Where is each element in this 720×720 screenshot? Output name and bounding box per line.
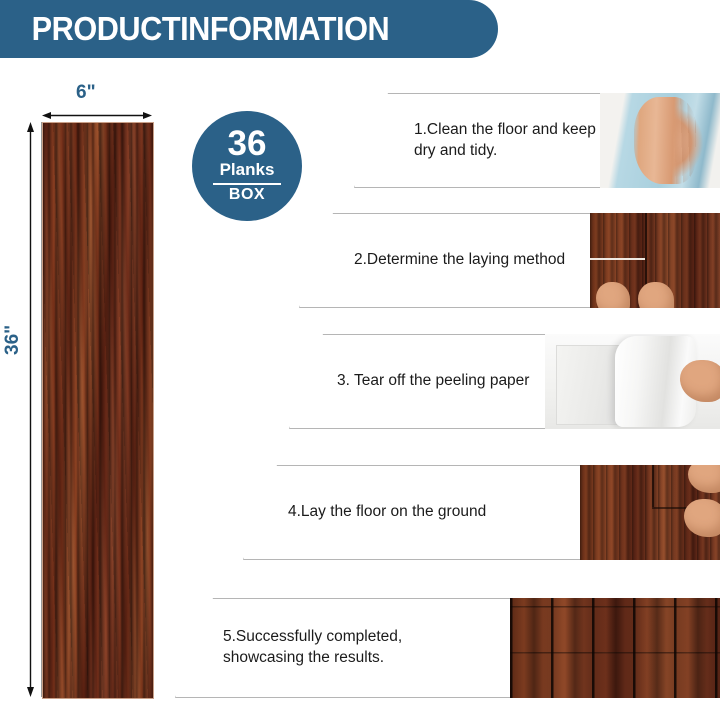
- product-plank-image: [42, 122, 154, 699]
- step-panel-3: 3. Tear off the peeling paper: [289, 334, 720, 429]
- step-panel-2: 2.Determine the laying method: [299, 213, 720, 308]
- badge-per: BOX: [229, 187, 265, 203]
- step-panel-1: 1.Clean the floor and keep it dry and ti…: [354, 93, 720, 188]
- step-4-image: [580, 465, 720, 560]
- hand-icon: [596, 282, 630, 308]
- laying-plank-photo: [580, 465, 720, 560]
- header-banner: PRODUCTINFORMATION: [0, 0, 498, 58]
- step-5-text: 5.Successfully completed, showcasing the…: [223, 598, 473, 698]
- step-panel-5: 5.Successfully completed, showcasing the…: [175, 598, 720, 698]
- hand-icon: [684, 499, 720, 537]
- step-1-image: [600, 93, 720, 188]
- step-1-text: 1.Clean the floor and keep it dry and ti…: [414, 93, 624, 188]
- step-2-image: [590, 213, 720, 308]
- peeling-paper-photo: [545, 334, 720, 429]
- finished-floor-photo: [510, 598, 720, 698]
- height-dimension-label: 36": [2, 325, 24, 355]
- badge-divider: [213, 183, 281, 185]
- step-panel-4: 4.Lay the floor on the ground: [243, 465, 720, 560]
- hand-icon: [688, 465, 720, 493]
- width-dimension-label: 6": [76, 82, 96, 104]
- badge-count: 36: [228, 127, 267, 160]
- step-2-text: 2.Determine the laying method: [354, 213, 594, 308]
- hand-towel-photo: [600, 93, 720, 188]
- step-3-image: [545, 334, 720, 429]
- wood-planks-photo: [590, 213, 720, 308]
- step-5-image: [510, 598, 720, 698]
- height-arrow-icon: [26, 122, 35, 697]
- hand-icon: [638, 282, 674, 308]
- badge-unit: Planks: [220, 161, 275, 180]
- planks-per-box-badge: 36 Planks BOX: [192, 111, 302, 221]
- infographic-canvas: PRODUCTINFORMATION 6" 36" 36 Planks BOX …: [0, 0, 720, 720]
- step-4-text: 4.Lay the floor on the ground: [288, 465, 548, 560]
- width-arrow-icon: [42, 111, 152, 120]
- plank-seam: [590, 258, 645, 260]
- page-title: PRODUCTINFORMATION: [0, 10, 389, 48]
- plank-seam: [652, 465, 654, 507]
